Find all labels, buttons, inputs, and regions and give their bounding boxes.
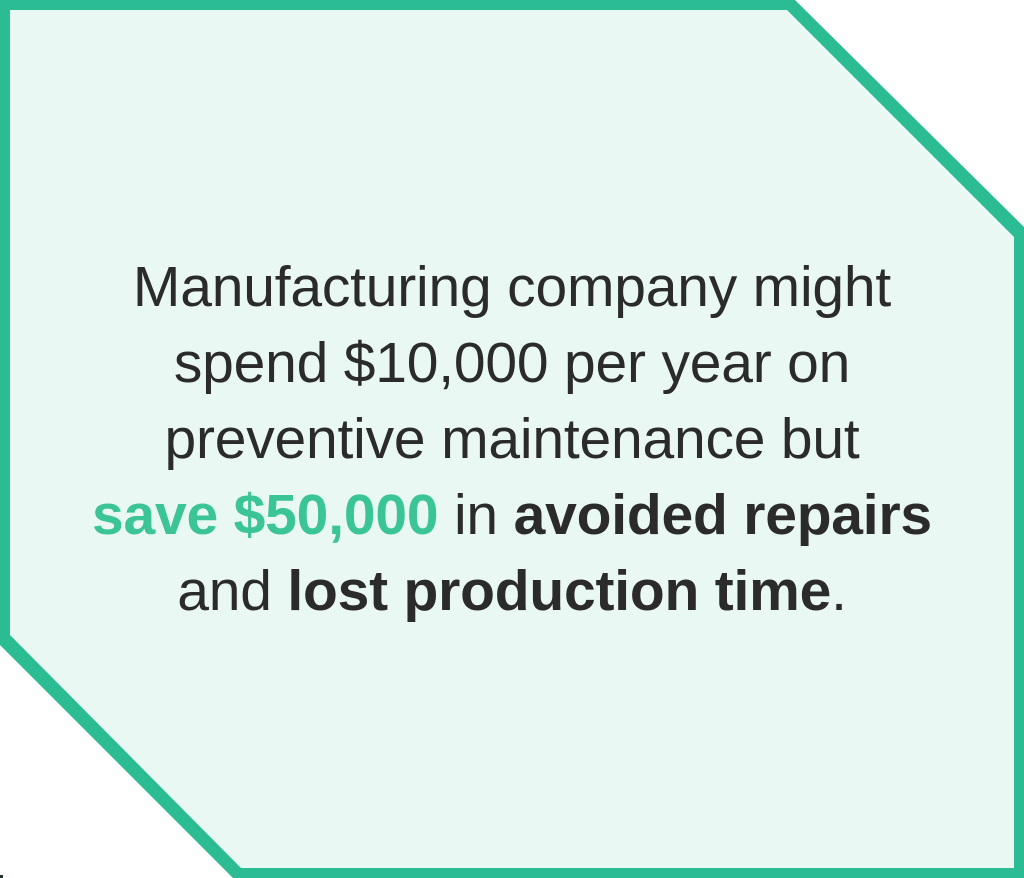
quote-line-4-connector: in <box>438 483 513 547</box>
savings-highlight: save $50,000 <box>92 483 438 547</box>
quote-line-5: and lost production time. <box>72 553 952 629</box>
quote-text: Manufacturing company might spend $10,00… <box>72 249 952 629</box>
quote-end-period: . <box>831 559 847 623</box>
quote-container: Manufacturing company might spend $10,00… <box>0 0 1024 878</box>
quote-line-5-connector: and <box>177 559 287 623</box>
quote-line-3: preventive maintenance but <box>72 401 952 477</box>
quote-line-2: spend $10,000 per year on <box>72 325 952 401</box>
avoided-repairs-emphasis: avoided repairs <box>514 483 932 547</box>
quote-card-canvas: Manufacturing company might spend $10,00… <box>0 0 1024 878</box>
lost-production-time-emphasis: lost production time <box>287 559 831 623</box>
quote-line-4: save $50,000 in avoided repairs <box>72 477 952 553</box>
quote-line-1: Manufacturing company might <box>72 249 952 325</box>
